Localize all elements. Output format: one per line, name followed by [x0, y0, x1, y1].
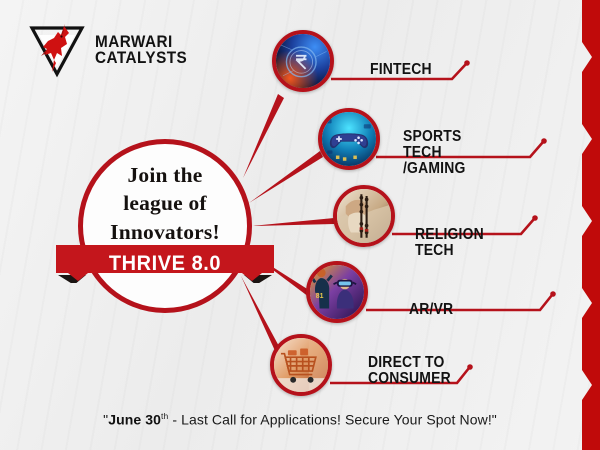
badge-headline-line-2: league of: [78, 189, 252, 217]
direct-to-consumer-circle-image: [270, 334, 332, 396]
vr-headset-icon: 81: [310, 265, 364, 319]
game-controller-icon: [322, 112, 376, 166]
brand-logo: MARWARI CATALYSTS: [28, 22, 197, 78]
svg-text:81: 81: [316, 293, 324, 300]
footer-date: June 30: [108, 412, 161, 428]
sports-gaming-label: SPORTS TECH /GAMING: [403, 129, 465, 177]
brand-line-2: CATALYSTS: [95, 50, 187, 66]
fintech-circle-image: [272, 30, 334, 92]
central-badge: Join the league of Innovators! THRIVE 8.…: [78, 139, 252, 313]
badge-headline-line-3: Innovators!: [78, 218, 252, 246]
poster-canvas: MARWARI CATALYSTS: [0, 0, 600, 450]
right-chevron-band: [560, 0, 600, 450]
ar-vr-label: AR/VR: [409, 302, 453, 318]
religion-tech-label: RELIGION TECH: [415, 227, 484, 259]
shopping-cart-icon: [274, 338, 328, 392]
fintech-label: FINTECH: [370, 62, 432, 78]
footer-rest: - Last Call for Applications! Secure You…: [168, 412, 497, 428]
footer-tagline: "June 30th - Last Call for Applications!…: [0, 411, 600, 428]
prayer-beads-icon: [337, 189, 391, 243]
ar-vr-circle-image: 81: [306, 261, 368, 323]
ribbon-label: THRIVE 8.0: [61, 252, 268, 276]
unicorn-triangle-logo-icon: [28, 22, 86, 78]
badge-ribbon: THRIVE 8.0: [56, 243, 274, 283]
badge-headline-line-1: Join the: [78, 161, 252, 189]
rupee-coin-icon: [276, 34, 330, 88]
sports-gaming-circle-image: [318, 108, 380, 170]
religion-tech-circle-image: [333, 185, 395, 247]
direct-to-consumer-label: DIRECT TO CONSUMER: [368, 355, 451, 387]
badge-headline: Join the league of Innovators!: [78, 161, 252, 246]
